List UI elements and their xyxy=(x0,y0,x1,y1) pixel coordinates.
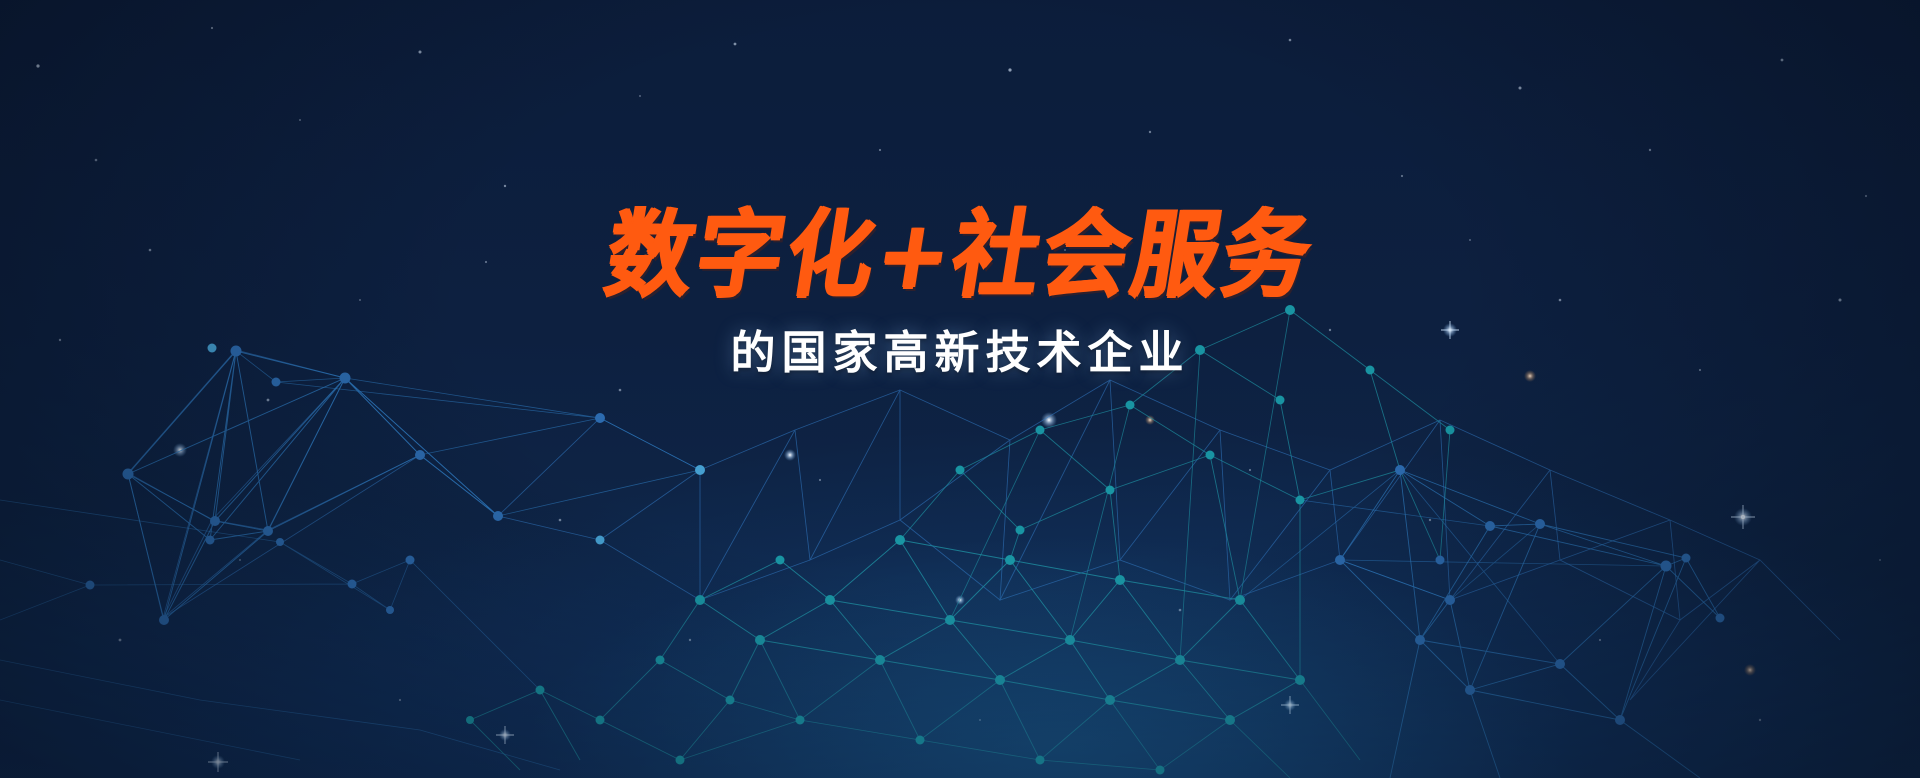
page-subtitle: 的国家高新技术企业 xyxy=(0,316,1920,381)
hero-text-block: 数字化+社会服务 的国家高新技术企业 xyxy=(0,212,1920,381)
polygon-network-icon xyxy=(0,0,1920,778)
hero-banner: 数字化+社会服务 的国家高新技术企业 xyxy=(0,0,1920,778)
page-title: 数字化+社会服务 xyxy=(599,208,1320,304)
